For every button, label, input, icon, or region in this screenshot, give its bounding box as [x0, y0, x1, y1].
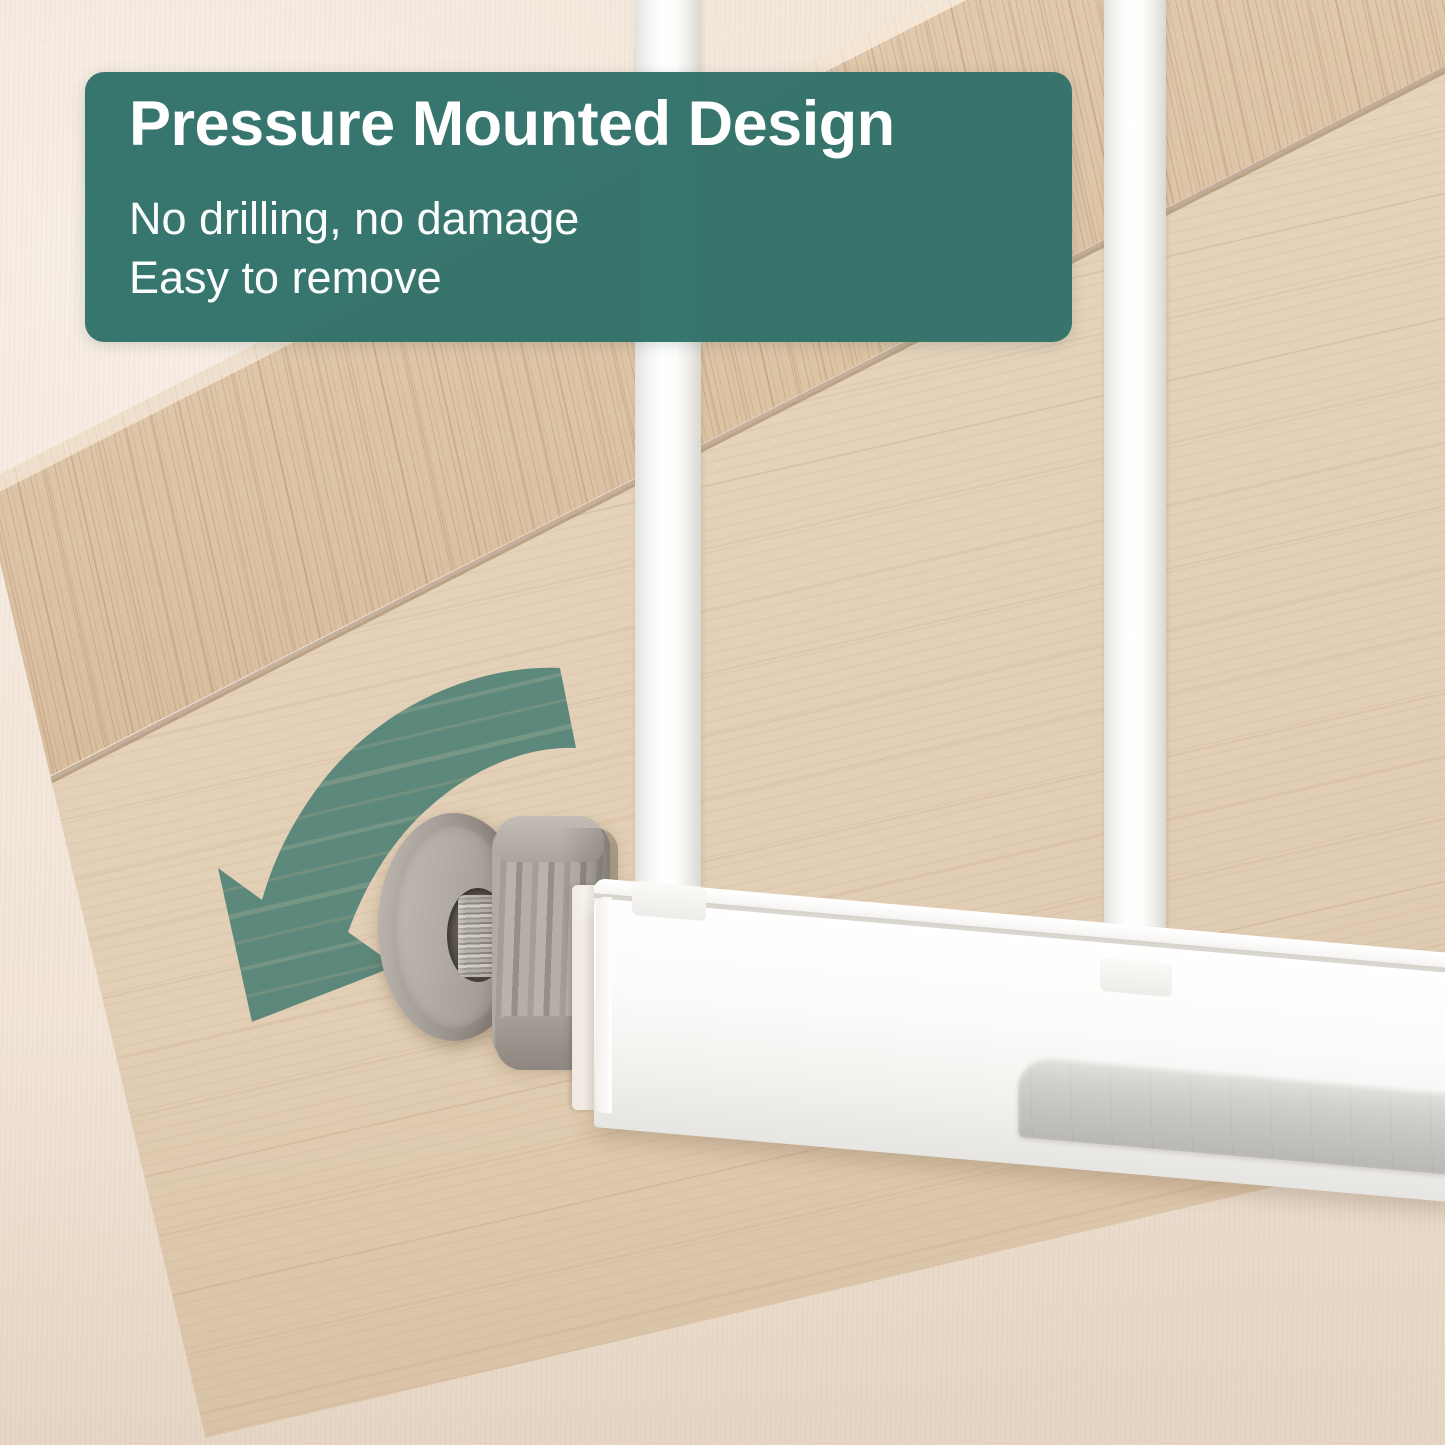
vertical-bar-right-foot	[1100, 957, 1172, 997]
product-feature-image: Pressure Mounted Design No drilling, no …	[0, 0, 1445, 1445]
banner-subtitle-line-1: No drilling, no damage	[129, 189, 579, 248]
banner-subtitle-line-2: Easy to remove	[129, 248, 579, 307]
banner-subtitle: No drilling, no damage Easy to remove	[129, 189, 579, 308]
vertical-bar-left-foot	[632, 881, 706, 921]
feature-banner: Pressure Mounted Design No drilling, no …	[85, 72, 1072, 342]
gate-rail-left-corner	[596, 896, 612, 1113]
banner-title: Pressure Mounted Design	[129, 92, 895, 156]
vertical-bar-right	[1104, 0, 1166, 990]
